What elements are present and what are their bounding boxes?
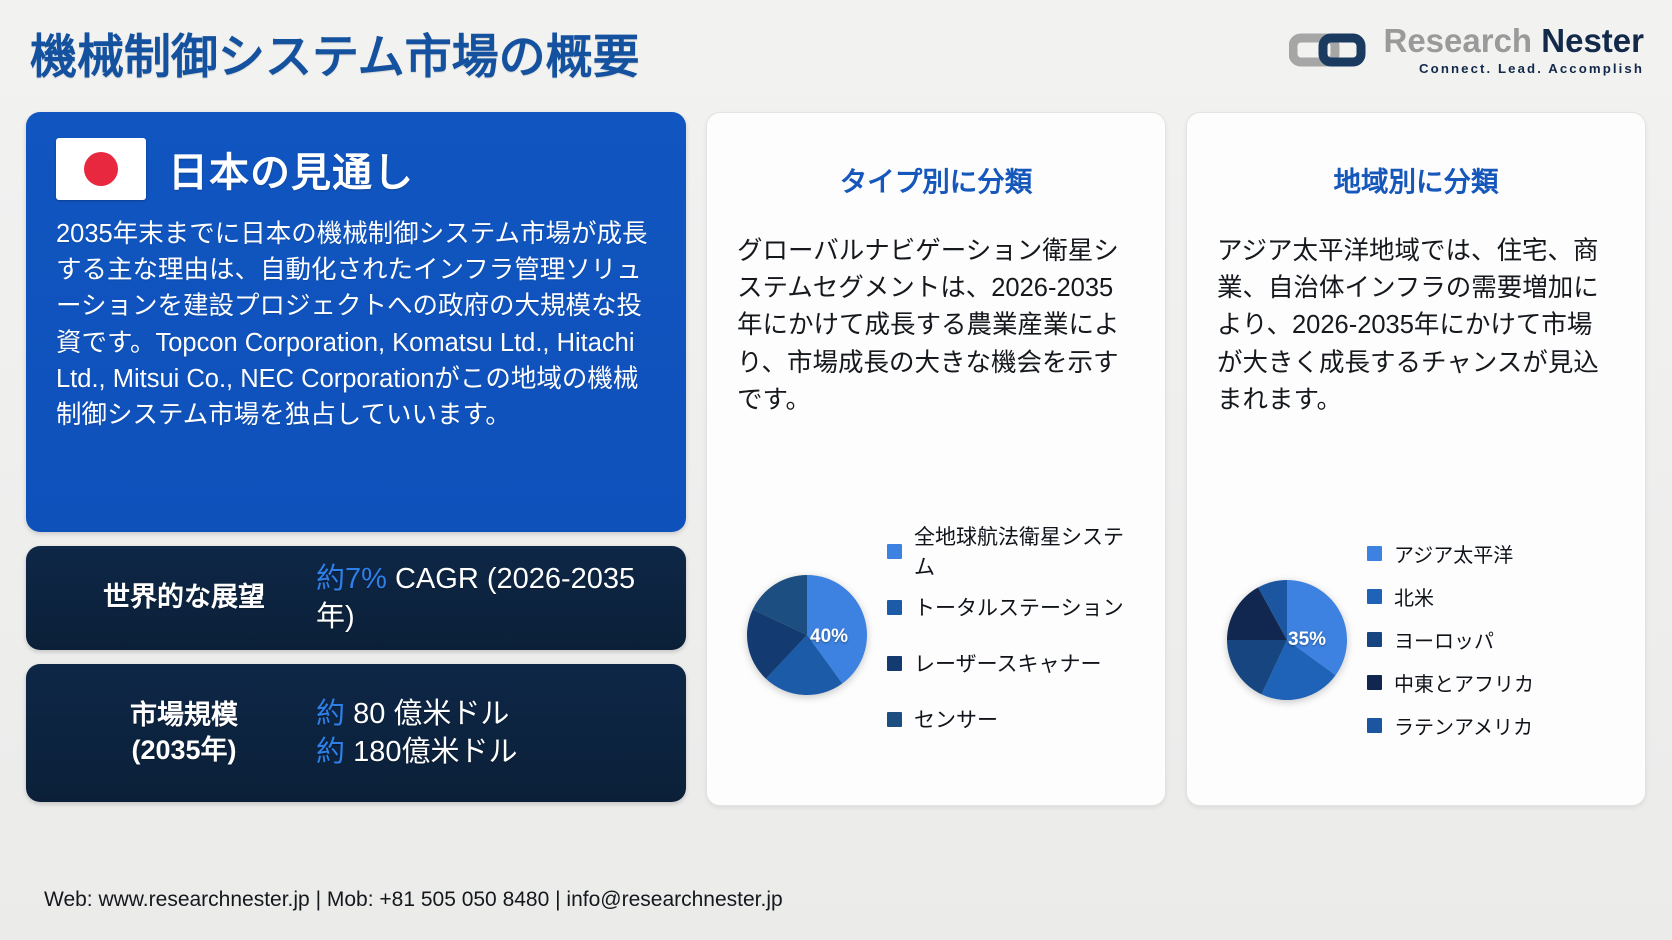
legend-label: レーザースキャナー [914,648,1102,678]
stat-label-market-size-line2: (2035年) [52,733,316,768]
legend-item: レーザースキャナー [887,635,1135,691]
legend-item: トータルステーション [887,579,1135,635]
stat-box-market-size: 市場規模 (2035年) 約 80 億米ドル 約 180億米ドル [26,664,686,802]
pie-chart-by-region: 35% [1226,579,1348,701]
stat-value-market-size: 約 80 億米ドル 約 180億米ドル [316,695,660,772]
logo-word-research: Research [1383,22,1532,59]
legend-swatch-icon [887,712,902,727]
research-nester-logo-icon [1289,24,1371,76]
market-size-rest-2: 180億米ドル [345,736,517,768]
segmentation-by-region-card: 地域別に分類 アジア太平洋地域では、住宅、商業、自治体インフラの需要増加により、… [1186,112,1646,806]
market-size-row-1: 約 80 億米ドル [316,695,660,733]
legend-swatch-icon [1367,718,1382,733]
japan-card-body: 2035年末までに日本の機械制御システム市場が成長する主な理由は、自動化されたイ… [56,216,656,433]
pie-svg-by-type [746,574,868,696]
japan-outlook-card: 日本の見通し 2035年末までに日本の機械制御システム市場が成長する主な理由は、… [26,112,686,532]
pie-wrap-by-type: 40% [737,574,877,696]
pie-legend-by-region: アジア太平洋北米ヨーロッパ中東とアフリカラテンアメリカ [1367,532,1615,747]
legend-item: 全地球航法衛星システム [887,523,1135,579]
brand-logo: Research Nester Connect. Lead. Accomplis… [1289,24,1644,76]
stat-box-global-outlook: 世界的な展望 約7% CAGR (2026-2035年) [26,546,686,650]
segmentation-by-type-card: タイプ別に分類 グローバルナビゲーション衛星システムセグメントは、2026-20… [706,112,1166,806]
infographic-page: 機械制御システム市場の概要 Research Nester Connect. L… [0,0,1672,940]
stat-label-market-size: 市場規模 (2035年) [52,698,316,768]
card-title-by-region: 地域別に分類 [1217,159,1615,199]
legend-label: ヨーロッパ [1394,625,1494,654]
legend-swatch-icon [1367,589,1382,604]
content-columns: 日本の見通し 2035年末までに日本の機械制御システム市場が成長する主な理由は、… [0,112,1672,832]
legend-swatch-icon [887,656,902,671]
stat-label-market-size-line1: 市場規模 [52,698,316,733]
legend-label: アジア太平洋 [1394,539,1513,568]
left-column: 日本の見通し 2035年末までに日本の機械制御システム市場が成長する主な理由は、… [26,112,686,832]
chart-area-by-region: 35% アジア太平洋北米ヨーロッパ中東とアフリカラテンアメリカ [1217,532,1615,781]
logo-tagline: Connect. Lead. Accomplish [1419,61,1644,76]
market-size-rest-1: 80 億米ドル [345,698,509,730]
legend-label: 中東とアフリカ [1394,668,1534,697]
legend-swatch-icon [887,600,902,615]
legend-swatch-icon [1367,675,1382,690]
legend-label: センサー [914,704,998,734]
japan-card-title: 日本の見通し [168,140,414,198]
legend-item: センサー [887,691,1135,747]
stat-label-global-outlook: 世界的な展望 [52,580,316,615]
footer-contact: Web: www.researchnester.jp | Mob: +81 50… [44,888,783,912]
market-size-accent-1: 約 [316,698,345,730]
card-body-by-region: アジア太平洋地域では、住宅、商業、自治体インフラの需要増加により、2026-20… [1217,233,1615,419]
legend-label: 北米 [1394,582,1434,611]
stat-value-global-outlook: 約7% CAGR (2026-2035年) [316,560,660,637]
market-size-accent-2: 約 [316,736,345,768]
logo-text: Research Nester Connect. Lead. Accomplis… [1383,24,1644,76]
legend-item: ヨーロッパ [1367,618,1615,661]
market-size-row-2: 約 180億米ドル [316,733,660,771]
pie-chart-by-type: 40% [746,574,868,696]
pie-legend-by-type: 全地球航法衛星システムトータルステーションレーザースキャナーセンサー [887,523,1135,747]
page-header: 機械制御システム市場の概要 Research Nester Connect. L… [0,0,1672,112]
legend-item: 中東とアフリカ [1367,661,1615,704]
legend-item: アジア太平洋 [1367,532,1615,575]
legend-item: 北米 [1367,575,1615,618]
japan-flag-icon [56,138,146,200]
legend-swatch-icon [1367,632,1382,647]
card-title-by-type: タイプ別に分類 [737,159,1135,199]
legend-label: 全地球航法衛星システム [914,521,1135,581]
chart-area-by-type: 40% 全地球航法衛星システムトータルステーションレーザースキャナーセンサー [737,523,1135,781]
legend-swatch-icon [887,544,902,559]
logo-word-nester: Nester [1541,22,1644,59]
stat-accent-cagr: 約7% [316,563,387,595]
legend-swatch-icon [1367,546,1382,561]
pie-wrap-by-region: 35% [1217,579,1357,701]
legend-item: ラテンアメリカ [1367,704,1615,747]
card-body-by-type: グローバルナビゲーション衛星システムセグメントは、2026-2035年にかけて成… [737,233,1135,419]
japan-card-header: 日本の見通し [56,138,656,200]
legend-label: トータルステーション [914,592,1124,622]
pie-svg-by-region [1226,579,1348,701]
right-column: 地域別に分類 アジア太平洋地域では、住宅、商業、自治体インフラの需要増加により、… [1186,112,1646,832]
page-title: 機械制御システム市場の概要 [30,18,640,87]
middle-column: タイプ別に分類 グローバルナビゲーション衛星システムセグメントは、2026-20… [706,112,1166,832]
legend-label: ラテンアメリカ [1394,711,1533,740]
